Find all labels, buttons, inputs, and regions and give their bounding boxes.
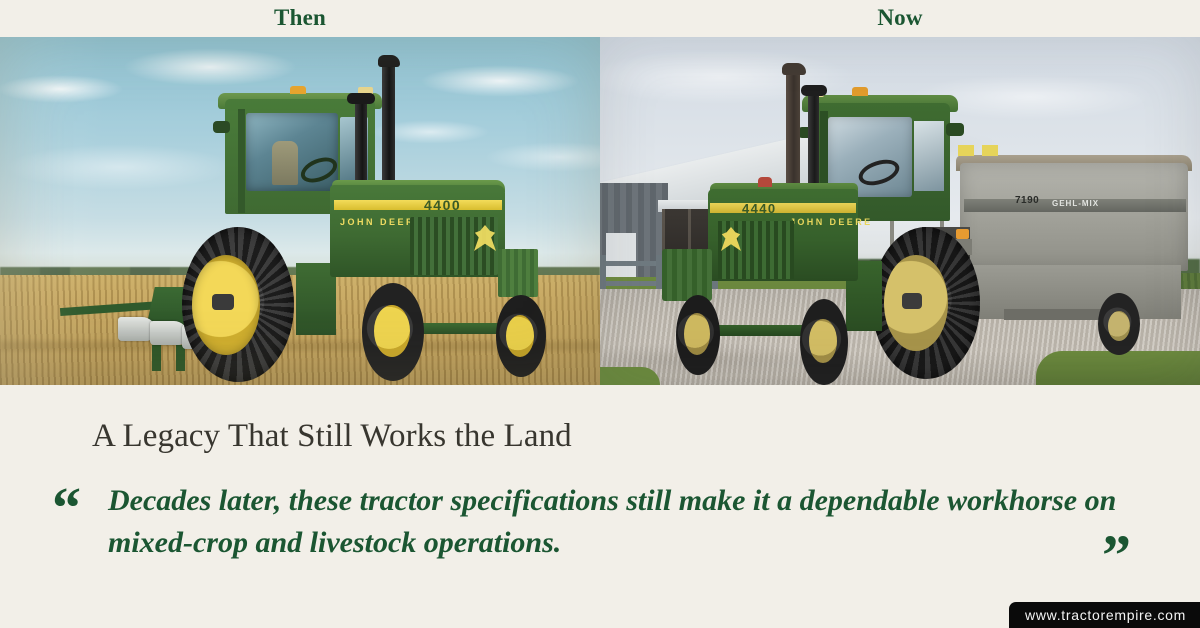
- site-watermark[interactable]: www.tractorempire.com: [1009, 602, 1200, 628]
- watermark-url: www.tractorempire.com: [1025, 607, 1186, 623]
- comparison-header-row: Then Now: [0, 0, 1200, 37]
- photo-now-working-tractor: 7190 GEHL-MIX 4440: [600, 37, 1200, 385]
- page-title: A Legacy That Still Works the Land: [92, 418, 572, 455]
- photo-vignette: [0, 37, 600, 385]
- column-label-then: Then: [274, 6, 326, 31]
- quote-text: Decades later, these tractor specificati…: [108, 480, 1168, 564]
- comparison-photo-band: JOHN DEERE 4400 7190 GEHL: [0, 37, 1200, 385]
- header-cell-then: Then: [0, 0, 600, 37]
- column-label-now: Now: [877, 6, 922, 31]
- photo-then-vintage-tractor: JOHN DEERE 4400: [0, 37, 600, 385]
- header-cell-now: Now: [600, 0, 1200, 37]
- photo-vignette: [600, 37, 1200, 385]
